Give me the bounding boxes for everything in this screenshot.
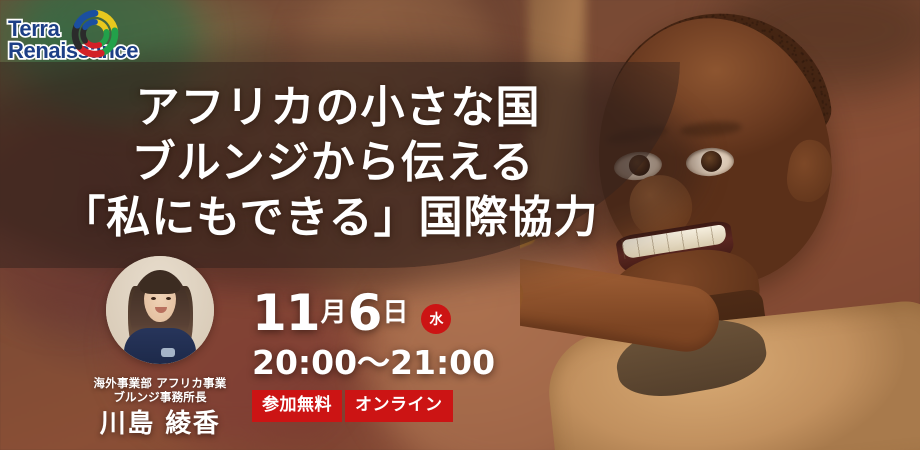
event-banner: Terra Renaissance [0,0,920,450]
speaker-block: 海外事業部 アフリカ事業 ブルンジ事務所長 川島 綾香 [60,256,260,439]
speaker-name: 川島 綾香 [60,409,260,439]
avatar-eye-right [166,297,171,300]
event-day-unit: 日 [381,288,409,338]
event-month-value: 11 [252,288,320,338]
speaker-role-line-1: 海外事業部 アフリカ事業 [60,376,260,390]
brand-logo[interactable]: Terra Renaissance [6,6,156,72]
title-line-2: ブルンジから伝える [0,135,660,190]
event-month-unit: 月 [320,288,348,338]
avatar-shirt-logo [161,348,175,357]
title-line-1: アフリカの小さな国 [0,80,660,135]
event-details: 11 月 6 日 水 20:00〜21:00 参加無料 オンライン [252,288,502,422]
tag-free-entry[interactable]: 参加無料 [252,390,342,422]
swirl-circle-logo-icon [69,8,121,65]
tag-online[interactable]: オンライン [345,390,453,422]
speaker-avatar [106,256,214,364]
event-title: アフリカの小さな国 ブルンジから伝える 「私にもできる」国際協力 [0,80,660,245]
speaker-role-line-2: ブルンジ事務所長 [60,390,260,404]
avatar-shirt [124,328,196,364]
avatar-eye-left [151,297,156,300]
speaker-role: 海外事業部 アフリカ事業 ブルンジ事務所長 [60,376,260,404]
event-time: 20:00〜21:00 [252,344,502,382]
event-tags: 参加無料 オンライン [252,390,502,422]
event-day-value: 6 [348,288,382,338]
avatar-bangs [140,276,180,294]
title-line-3: 「私にもできる」国際協力 [0,190,660,245]
event-date: 11 月 6 日 水 [252,288,502,338]
day-of-week-badge: 水 [421,304,451,334]
